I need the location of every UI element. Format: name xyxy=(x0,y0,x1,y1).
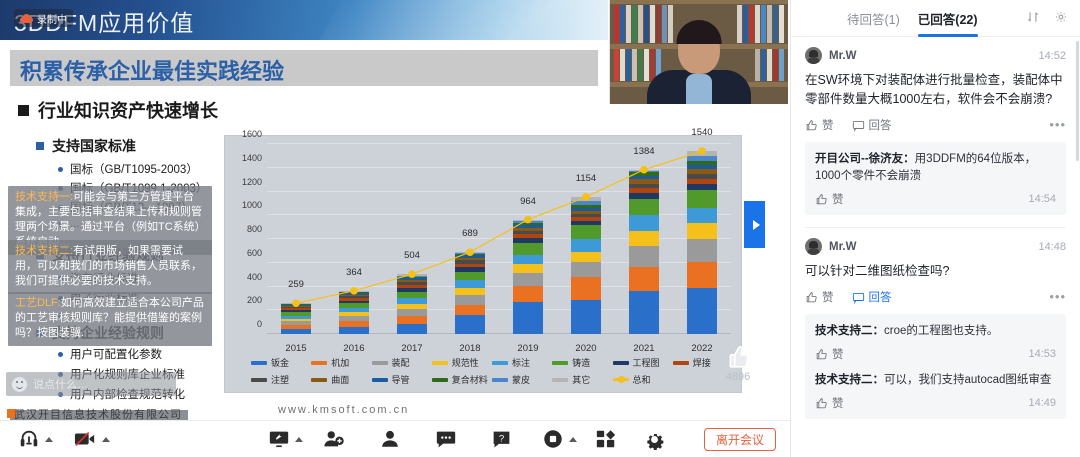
thumbs-up-icon xyxy=(805,119,818,132)
chart-legend-item: 标注 xyxy=(492,356,552,369)
meeting-toolbar: ? 离开会议 xyxy=(0,420,790,457)
qa-like-label: 赞 xyxy=(822,289,834,305)
legend-swatch xyxy=(613,378,629,381)
share-screen-icon xyxy=(268,428,290,450)
slide-section-3-item-0: 用户可配置化参数 xyxy=(58,346,162,362)
audio-options-caret-icon[interactable] xyxy=(45,437,53,442)
record-options-caret-icon[interactable] xyxy=(569,437,577,442)
chart-y-tick: 1000 xyxy=(242,200,262,210)
chart-total-marker xyxy=(292,299,300,307)
slide-section-1-text: 支持国家标准 xyxy=(52,136,136,156)
qa-author: Mr.W xyxy=(829,241,856,253)
apps-grid-icon xyxy=(595,428,617,450)
chart-total-marker xyxy=(582,193,590,201)
question-bubble-icon: ? xyxy=(491,429,512,450)
chart-y-tick: 400 xyxy=(247,272,262,282)
reply-bubble-icon xyxy=(852,119,865,132)
chart-y-tick: 1400 xyxy=(242,153,262,163)
legend-label: 标注 xyxy=(512,356,530,369)
qa-answer: 开目公司--徐济友：用3DDFM的64位版本，1000个零件不会崩溃 赞 14:… xyxy=(815,151,1056,207)
next-slide-button[interactable] xyxy=(744,201,765,248)
chart-x-tick: 2018 xyxy=(441,343,499,354)
chart-legend-item: 其它 xyxy=(552,373,612,386)
svg-text:?: ? xyxy=(499,433,504,444)
slide-footer-company: 武汉开目信息技术股份有限公司 xyxy=(14,406,182,420)
chart-legend-item: 规范性 xyxy=(432,356,492,369)
slide-footer-url: www.kmsoft.com.cn xyxy=(278,404,409,416)
legend-label: 其它 xyxy=(572,373,590,386)
tab-answered[interactable]: 已回答(22) xyxy=(918,0,978,37)
growth-chart: 02004006008001000120014001600 2592015364… xyxy=(224,135,742,393)
dot-bullet-icon xyxy=(58,167,63,172)
chart-total-marker xyxy=(640,166,648,174)
slide-subtitle-bar: 积累传承企业最佳实践经验 xyxy=(10,50,598,86)
apps-button[interactable] xyxy=(595,421,617,457)
video-button[interactable] xyxy=(73,421,97,457)
qa-like-label: 赞 xyxy=(832,395,844,411)
audio-button[interactable] xyxy=(18,421,40,457)
share-options-caret-icon[interactable] xyxy=(295,437,303,442)
dot-bullet-icon xyxy=(58,352,63,357)
settings-button[interactable] xyxy=(643,421,666,457)
thumbs-up-icon xyxy=(815,397,828,410)
record-button[interactable] xyxy=(542,421,564,457)
chart-x-tick: 2020 xyxy=(557,343,615,354)
record-icon xyxy=(542,428,564,450)
add-person-icon xyxy=(323,428,345,450)
chart-legend-item: 机加 xyxy=(311,356,371,369)
qa-answer-author: 开目公司--徐济友： xyxy=(815,153,915,165)
slide-subtitle: 积累传承企业最佳实践经验 xyxy=(20,54,284,86)
legend-swatch xyxy=(432,378,448,382)
qa-reply-label: 回答 xyxy=(869,117,892,133)
legend-swatch xyxy=(673,361,689,365)
legend-label: 注塑 xyxy=(271,373,289,386)
qa-header-icons xyxy=(1026,10,1068,24)
legend-swatch xyxy=(613,361,629,365)
chart-legend-item: 铸造 xyxy=(552,356,612,369)
legend-swatch xyxy=(251,361,267,365)
meeting-window: 3DDFM应用价值 积累传承企业最佳实践经验 行业知识资产快速增长 支持国家标准… xyxy=(0,0,1080,457)
chart-legend-item: 装配 xyxy=(372,356,432,369)
presentation-stage: 3DDFM应用价值 积累传承企业最佳实践经验 行业知识资产快速增长 支持国家标准… xyxy=(0,0,790,457)
qa-panel: 待回答(1) 已回答(22) Mr.W 14:52 xyxy=(790,0,1080,457)
qa-question-item: Mr.W 14:48 可以针对二维图纸检查吗? 赞 xyxy=(791,228,1080,419)
legend-swatch xyxy=(492,378,508,382)
speaker-video-tile[interactable] xyxy=(609,0,788,104)
chart-legend-item: 曲面 xyxy=(311,373,371,386)
chart-legend-item: 注塑 xyxy=(251,373,311,386)
qa-like-action[interactable]: 赞 xyxy=(805,117,834,133)
sort-icon[interactable] xyxy=(1026,10,1040,24)
thumbs-up-icon xyxy=(815,348,828,361)
chart-total-marker xyxy=(524,216,532,224)
qa-button[interactable]: ? xyxy=(491,421,512,457)
overlay-tag: 技术支持二: xyxy=(15,245,73,257)
qa-answer: 技术支持二：可以，我们支持autocad图纸审查 赞 14:49 xyxy=(815,372,1056,411)
chart-total-label: 1540 xyxy=(691,127,712,138)
qa-answer-actions: 赞 14:49 xyxy=(815,395,1056,411)
recording-indicator: 录制中 xyxy=(14,9,73,27)
chart-legend: 钣金机加装配规范性标注铸造工程图焊接注塑曲面导管复合材料蒙皮其它总和 xyxy=(251,356,733,386)
comment-placeholder: 说点什么… xyxy=(33,376,88,392)
thumbs-up-icon[interactable] xyxy=(725,344,751,370)
qa-answer-like[interactable]: 赞 xyxy=(815,395,844,411)
gear-icon[interactable] xyxy=(1054,10,1068,24)
legend-swatch xyxy=(552,361,568,365)
chat-button[interactable] xyxy=(435,421,457,457)
chat-bubble-icon xyxy=(435,428,457,450)
qa-answer-actions: 赞 14:53 xyxy=(815,346,1056,362)
chart-total-marker xyxy=(350,287,358,295)
legend-swatch xyxy=(372,378,388,382)
legend-label: 总和 xyxy=(633,373,651,386)
thumbs-up-icon xyxy=(805,291,818,304)
qa-like-action[interactable]: 赞 xyxy=(805,289,834,305)
legend-swatch xyxy=(311,378,327,382)
cloud-record-icon xyxy=(20,14,33,23)
legend-label: 曲面 xyxy=(331,373,349,386)
chart-x-tick: 2019 xyxy=(499,343,557,354)
headset-icon xyxy=(18,428,40,450)
chart-x-tick: 2016 xyxy=(325,343,383,354)
qa-time: 14:52 xyxy=(1038,50,1066,62)
overlay-comment-2: 工艺DLF:如何高效建立适合本公司产品的工艺审核规则库？能提供借鉴的案例吗？按图… xyxy=(8,292,212,346)
chart-legend-item: 工程图 xyxy=(613,356,673,369)
chart-legend-item-total: 总和 xyxy=(613,373,673,386)
legend-label: 铸造 xyxy=(572,356,590,369)
square-bullet-icon xyxy=(36,142,44,150)
qa-like-label: 赞 xyxy=(822,117,834,133)
qa-question-header: Mr.W 14:48 xyxy=(805,238,1066,255)
share-screen-button[interactable] xyxy=(268,421,290,457)
qa-like-label: 赞 xyxy=(832,346,844,362)
legend-label: 钣金 xyxy=(271,356,289,369)
legend-label: 规范性 xyxy=(452,356,479,369)
slide-heading-text: 行业知识资产快速增长 xyxy=(38,97,218,123)
reply-bubble-icon xyxy=(852,291,865,304)
qa-answer-actions: 赞 14:54 xyxy=(815,191,1056,207)
qa-question-actions: 赞 回答 ••• xyxy=(805,117,1066,133)
overlay-tag: 技术支持一: xyxy=(15,191,73,203)
slide-heading: 行业知识资产快速增长 xyxy=(18,97,218,123)
qa-answer-body: croe的工程图也支持。 xyxy=(884,325,998,337)
qa-answer-body: 可以，我们支持autocad图纸审查 xyxy=(884,374,1051,386)
like-count: 4896 xyxy=(716,371,760,383)
qa-answer-text: 技术支持二：可以，我们支持autocad图纸审查 xyxy=(815,372,1056,389)
qa-author: Mr.W xyxy=(829,50,856,62)
qa-scrollbar[interactable] xyxy=(1076,41,1079,161)
qa-answer-author: 技术支持二： xyxy=(815,374,884,386)
qa-answer-block: 开目公司--徐济友：用3DDFM的64位版本，1000个零件不会崩溃 赞 14:… xyxy=(805,142,1066,215)
leave-meeting-button[interactable]: 离开会议 xyxy=(704,428,776,451)
qa-answer-text: 开目公司--徐济友：用3DDFM的64位版本，1000个零件不会崩溃 xyxy=(815,151,1056,185)
chart-y-tick: 0 xyxy=(257,319,262,329)
gear-icon xyxy=(643,428,666,451)
speaker-shirt xyxy=(686,74,712,104)
avatar xyxy=(805,238,822,255)
participants-button[interactable] xyxy=(379,421,401,457)
legend-swatch xyxy=(492,361,508,365)
qa-answer-time: 14:54 xyxy=(1028,193,1056,205)
legend-swatch xyxy=(552,378,568,382)
qa-answer-block: 技术支持二：croe的工程图也支持。 赞 14:53 xyxy=(805,314,1066,419)
qa-tabs: 待回答(1) 已回答(22) xyxy=(847,0,978,37)
qa-more-icon[interactable]: ••• xyxy=(1049,121,1066,129)
qa-question-actions: 赞 回答 ••• xyxy=(805,289,1066,305)
qa-answer-time: 14:49 xyxy=(1028,397,1056,409)
emoji-icon[interactable] xyxy=(12,377,27,392)
chart-y-tick: 1600 xyxy=(242,129,262,139)
legend-label: 焊接 xyxy=(693,356,711,369)
qa-answer-time: 14:53 xyxy=(1028,348,1056,360)
qa-reply-label: 回答 xyxy=(869,289,892,305)
qa-answer-like[interactable]: 赞 xyxy=(815,346,844,362)
qa-question-text: 在SW环境下对装配体进行批量检查，装配体中零部件数量大概1000左右，软件会不会… xyxy=(805,71,1066,109)
qa-answer-author: 技术支持二： xyxy=(815,325,884,337)
qa-answer-text: 技术支持二：croe的工程图也支持。 xyxy=(815,323,1056,340)
chart-y-tick: 1200 xyxy=(242,177,262,187)
chart-total-marker xyxy=(698,147,706,155)
legend-label: 工程图 xyxy=(633,356,660,369)
chart-y-tick: 600 xyxy=(247,248,262,258)
speaker-hair xyxy=(677,20,722,44)
thumbs-up-icon xyxy=(815,193,828,206)
legend-swatch xyxy=(251,378,267,382)
qa-answer-like[interactable]: 赞 xyxy=(815,191,844,207)
qa-reply-action[interactable]: 回答 xyxy=(852,117,892,133)
person-icon xyxy=(379,428,401,450)
chart-x-tick: 2015 xyxy=(267,343,325,354)
qa-question-item: Mr.W 14:52 在SW环境下对装配体进行批量检查，装配体中零部件数量大概1… xyxy=(791,37,1080,215)
qa-question-list[interactable]: Mr.W 14:52 在SW环境下对装配体进行批量检查，装配体中零部件数量大概1… xyxy=(791,37,1080,457)
qa-reply-action[interactable]: 回答 xyxy=(852,289,892,305)
legend-swatch xyxy=(432,361,448,365)
qa-like-label: 赞 xyxy=(832,191,844,207)
chart-legend-item: 蒙皮 xyxy=(492,373,552,386)
slide-section-1: 支持国家标准 xyxy=(36,136,136,156)
overlay-comment-1: 技术支持二:有试用版，如果需要试用，可以和我们的市场销售人员联系，我们可提供必要… xyxy=(8,240,212,294)
chart-total-line xyxy=(267,144,731,334)
like-widget[interactable]: 4896 xyxy=(716,344,760,383)
legend-label: 机加 xyxy=(331,356,349,369)
qa-time: 14:48 xyxy=(1038,241,1066,253)
chart-y-tick: 800 xyxy=(247,224,262,234)
comment-input[interactable]: 说点什么… xyxy=(6,372,176,396)
slide-section-1-item-0: 国标（GB/T1095-2003） xyxy=(58,161,198,177)
chart-legend-item: 导管 xyxy=(372,373,432,386)
chart-legend-item: 复合材料 xyxy=(432,373,492,386)
chart-x-tick: 2021 xyxy=(615,343,673,354)
legend-swatch xyxy=(311,361,327,365)
qa-panel-header: 待回答(1) 已回答(22) xyxy=(791,0,1080,37)
slide-title-band: 3DDFM应用价值 xyxy=(0,0,608,40)
chart-x-tick: 2017 xyxy=(383,343,441,354)
legend-label: 复合材料 xyxy=(452,373,488,386)
qa-answer: 技术支持二：croe的工程图也支持。 赞 14:53 xyxy=(815,323,1056,362)
overlay-tag: 工艺DLF: xyxy=(15,297,61,309)
legend-label: 蒙皮 xyxy=(512,373,530,386)
chart-total-line-path xyxy=(296,151,702,303)
avatar xyxy=(805,47,822,64)
legend-label: 装配 xyxy=(392,356,410,369)
chart-total-marker xyxy=(466,248,474,256)
legend-swatch xyxy=(372,361,388,365)
invite-button[interactable] xyxy=(323,421,345,457)
recording-label: 录制中 xyxy=(37,11,67,26)
qa-question-header: Mr.W 14:52 xyxy=(805,47,1066,64)
camera-off-icon xyxy=(73,428,97,450)
video-options-caret-icon[interactable] xyxy=(102,437,110,442)
chart-legend-item: 钣金 xyxy=(251,356,311,369)
chart-plot-area: 02004006008001000120014001600 2592015364… xyxy=(267,144,731,334)
qa-more-icon[interactable]: ••• xyxy=(1049,293,1066,301)
tab-pending[interactable]: 待回答(1) xyxy=(847,0,900,37)
square-bullet-icon xyxy=(18,105,29,116)
legend-label: 导管 xyxy=(392,373,410,386)
chart-y-tick: 200 xyxy=(247,295,262,305)
qa-question-text: 可以针对二维图纸检查吗? xyxy=(805,262,1066,281)
chart-total-marker xyxy=(408,270,416,278)
